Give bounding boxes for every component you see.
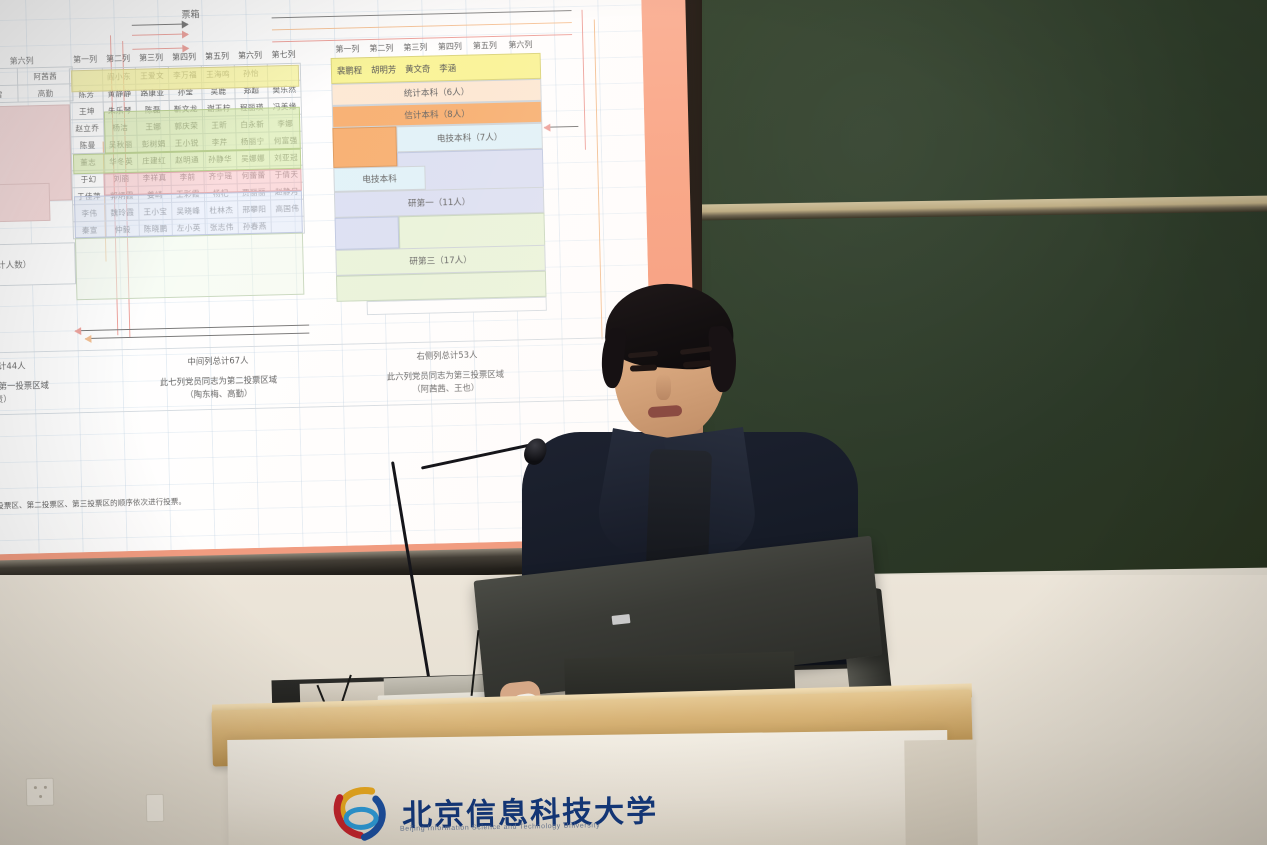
center-bottom-arrow-tan [85, 333, 309, 339]
table-row: 郎 管诗雪 高勤 [0, 84, 73, 104]
name-cell: 王坤 [70, 102, 103, 120]
right-table-bottom-notch [367, 297, 547, 315]
right-group-2: 电技本科（7人） [396, 123, 543, 153]
wall-socket-1 [26, 778, 55, 807]
ballot-box-label: 票箱 [181, 7, 199, 20]
name-cell: 裴鹏程 [337, 64, 362, 77]
right-group-4-tail [335, 216, 400, 250]
footer-right-zone: 此六列党员同志为第三投票区域 （阿茜茜、王也） [338, 367, 553, 398]
name-cell: 赵立乔 [71, 119, 104, 137]
podium-body-right [904, 740, 978, 845]
top-rule-tan [272, 22, 572, 30]
name-cell: 胡明芳 [371, 63, 396, 76]
lecture-hall-photo: 票箱 第五列 第六列 [0, 0, 1267, 845]
left-table: 海 王也 阿茜茜 郎 管诗雪 高勤 [0, 66, 74, 104]
footer-center-total: 中间列总计67人 [120, 352, 316, 370]
footer-left-total: 左侧列总计44人 [0, 359, 60, 375]
inner-shirt [646, 449, 712, 571]
arrow-to-ballot-box-1 [132, 23, 188, 25]
center-group-green [104, 107, 301, 154]
center-bottom-arrow-pink [75, 325, 309, 332]
footer-left-zone: 此列党员同志为第一投票区域 （负责） [0, 379, 61, 408]
right-side-arrow [544, 126, 578, 128]
top-rule-dark [272, 10, 572, 18]
arrow-to-ballot-box-3 [132, 47, 188, 49]
note-line-3: 引导下，按照第一投票区、第二投票区、第三投票区的顺序依次进行投票。 [0, 494, 186, 516]
name-cell: 黄文奇 [405, 63, 430, 76]
right-group-1-extension [332, 126, 397, 168]
nose [656, 374, 671, 400]
mouth [648, 405, 683, 418]
guide-line-right-pink [582, 10, 586, 150]
wall-socket-2 [146, 794, 165, 822]
center-group-blue [74, 191, 303, 239]
name-cell: 李涵 [439, 62, 456, 74]
university-swirl-logo [330, 785, 393, 842]
left-count-box: （统计人数） [0, 242, 76, 287]
footer-right-total: 右侧列总计53人 [342, 347, 552, 365]
name-cell: 陈曼 [71, 136, 104, 154]
right-group-3: 电技本科 [333, 166, 426, 192]
center-group-lightgreen [75, 233, 304, 301]
footer-center-zone: 此七列党员同志为第二投票区域 （陶东梅、高勤） [116, 372, 321, 403]
footer-left-zone-sub: （负责） [0, 392, 61, 408]
right-table-header: 第一列 第二列 第三列 第四列 第五列 第六列 [330, 39, 538, 55]
arrow-to-ballot-box-2 [132, 33, 188, 35]
university-logo-block: 北京信息科技大学 [330, 780, 659, 842]
left-group-block-pink-2 [0, 183, 51, 224]
